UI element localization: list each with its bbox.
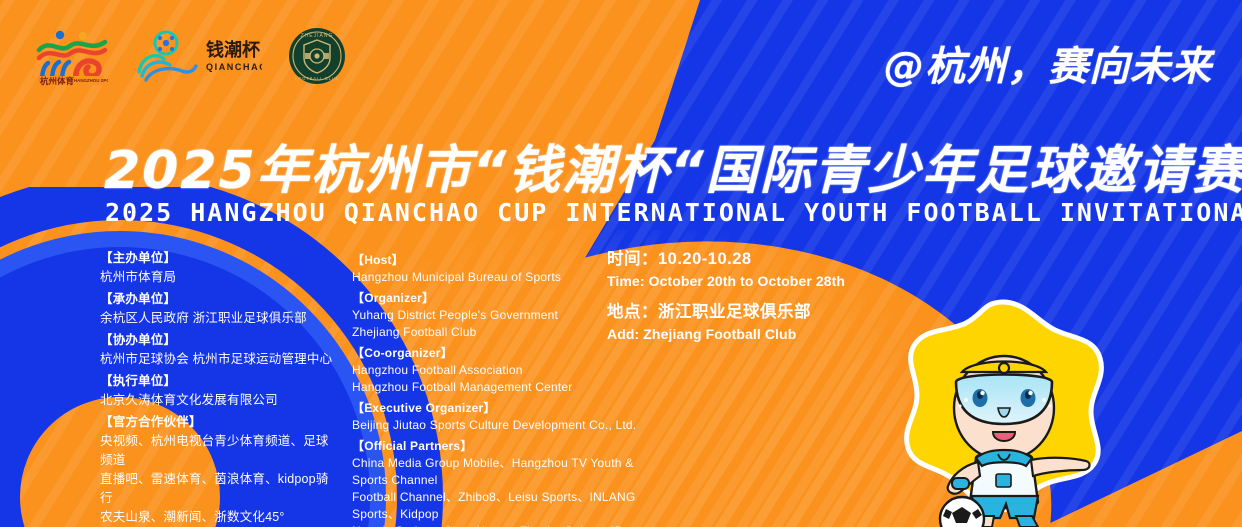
credit-value: 北京久涛体育文化发展有限公司 — [100, 391, 340, 410]
zhejiang-football-club-badge: ZHEJIANG FOOTBALL CLUB — [288, 25, 346, 87]
credit-block: 【协办单位】 杭州市足球协会 杭州市足球运动管理中心 — [100, 331, 340, 369]
credit-value: 余杭区人民政府 浙江职业足球俱乐部 — [100, 309, 340, 328]
qianchao-cup-logo-en: QIANCHAO CUP — [206, 62, 262, 72]
credit-value: 直播吧、雷速体育、茵浪体育、kidpop骑行 — [100, 470, 340, 508]
credit-block: 【主办单位】 杭州市体育局 — [100, 249, 340, 287]
credit-value: Hangzhou Football Association — [352, 362, 652, 379]
page-title-en: 2025 HANGZHOU QIANCHAO CUP INTERNATIONAL… — [105, 198, 1242, 227]
event-place-en: Add: Zhejiang Football Club — [607, 324, 907, 344]
credit-value: Nongfu Spring、Chao News、Zheshu Culture 4… — [352, 523, 652, 527]
hangzhou-sports-logo-en: HANGZHOU SPORTS — [74, 78, 108, 83]
credit-value: 农夫山泉、潮新闻、浙数文化45° — [100, 508, 340, 527]
credit-block: 【Co-organizer】 Hangzhou Football Associa… — [352, 344, 652, 396]
credit-block: 【官方合作伙伴】 央视频、杭州电视台青少体育频道、足球频道 直播吧、雷速体育、茵… — [100, 413, 340, 527]
page-title-cn: 2025年杭州市“钱潮杯“国际青少年足球邀请赛 — [104, 128, 1242, 203]
credit-value: Hangzhou Football Management Center — [352, 379, 652, 396]
zhejiang-badge-bottom-text: FOOTBALL CLUB — [295, 76, 339, 81]
zhejiang-badge-top-text: ZHEJIANG — [301, 33, 334, 39]
credit-label: 【Official Partners】 — [352, 437, 652, 455]
credits-column-cn: 【主办单位】 杭州市体育局 【承办单位】 余杭区人民政府 浙江职业足球俱乐部 【… — [100, 249, 340, 527]
star-haired-football-mascot — [888, 296, 1123, 527]
event-details: 时间：10.20-10.28 Time: October 20th to Oct… — [607, 248, 907, 344]
credit-value: China Media Group Mobile、Hangzhou TV You… — [352, 455, 652, 489]
credit-label: 【主办单位】 — [100, 249, 340, 268]
credit-value: 杭州市足球协会 杭州市足球运动管理中心 — [100, 350, 340, 369]
credit-value: Football Channel、Zhibo8、Leisu Sports、INL… — [352, 489, 652, 523]
credit-value: 央视频、杭州电视台青少体育频道、足球频道 — [100, 432, 340, 470]
credit-label: 【执行单位】 — [100, 372, 340, 391]
event-poster: 杭州体育 HANGZHOU SPORTS 钱潮杯 QIANCHAO CUP — [0, 0, 1242, 527]
spacer — [607, 291, 907, 301]
event-time-cn: 时间：10.20-10.28 — [607, 248, 907, 271]
credit-block: 【承办单位】 余杭区人民政府 浙江职业足球俱乐部 — [100, 290, 340, 328]
credit-label: 【官方合作伙伴】 — [100, 413, 340, 432]
event-place-cn: 地点：浙江职业足球俱乐部 — [607, 301, 907, 324]
slogan: @杭州，赛向未来 — [884, 34, 1212, 92]
sponsor-logo-row: 杭州体育 HANGZHOU SPORTS 钱潮杯 QIANCHAO CUP — [36, 25, 346, 87]
credit-block: 【执行单位】 北京久涛体育文化发展有限公司 — [100, 372, 340, 410]
credit-label: 【Executive Organizer】 — [352, 399, 652, 417]
qianchao-cup-logo-cn: 钱潮杯 — [206, 39, 261, 61]
credit-block: 【Official Partners】 China Media Group Mo… — [352, 437, 652, 527]
credit-block: 【Executive Organizer】 Beijing Jiutao Spo… — [352, 399, 652, 434]
credit-label: 【承办单位】 — [100, 290, 340, 309]
qianchao-cup-logo: 钱潮杯 QIANCHAO CUP — [134, 25, 262, 87]
credit-label: 【Co-organizer】 — [352, 344, 652, 362]
hangzhou-sports-bureau-logo: 杭州体育 HANGZHOU SPORTS — [36, 25, 108, 87]
credit-value: 杭州市体育局 — [100, 268, 340, 287]
event-time-en: Time: October 20th to October 28th — [607, 271, 907, 291]
hangzhou-sports-logo-cn: 杭州体育 — [40, 76, 75, 86]
credit-value: Beijing Jiutao Sports Culture Developmen… — [352, 417, 652, 434]
credit-label: 【协办单位】 — [100, 331, 340, 350]
